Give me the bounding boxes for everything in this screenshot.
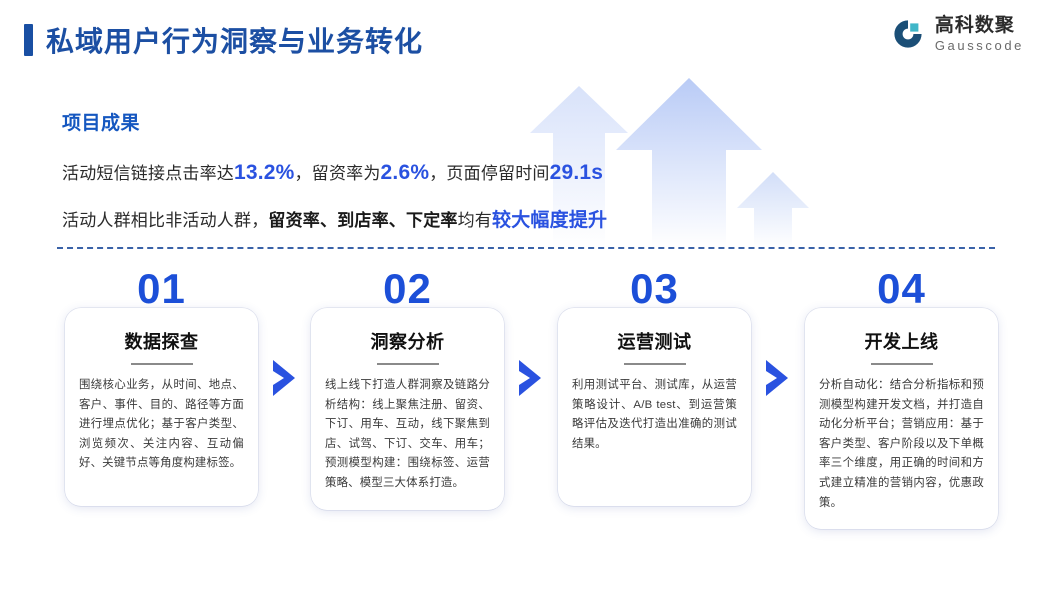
- step-rule: [131, 363, 193, 365]
- logo-name-cn: 高科数聚: [935, 16, 1024, 35]
- stat-dwell-time: 29.1s: [550, 161, 604, 184]
- results-line1-seg2: ，留资率为: [295, 164, 381, 183]
- results-block: 项目成果 活动短信链接点击率达13.2%，留资率为2.6%，页面停留时间29.1…: [62, 108, 762, 251]
- step-title: 数据探查: [79, 328, 244, 354]
- stat-click-rate: 13.2%: [234, 161, 295, 184]
- results-line2-seg1: 活动人群相比非活动人群，: [62, 211, 268, 230]
- brand-logo: 高科数聚 Gausscode: [891, 16, 1024, 52]
- step-card-body[interactable]: 运营测试 利用测试平台、测试库，从运营策略设计、A/B test、到运营策略评估…: [558, 308, 751, 506]
- results-line1-seg3: ，页面停留时间: [429, 164, 549, 183]
- logo-name-en: Gausscode: [935, 39, 1024, 52]
- results-line2-metrics: 留资率、到店率、下定率: [268, 211, 457, 230]
- step-description: 围绕核心业务，从时间、地点、客户、事件、目的、路径等方面进行埋点优化；基于客户类…: [79, 376, 244, 474]
- page-header: 私域用户行为洞察与业务转化: [24, 20, 423, 60]
- step-description: 分析自动化：结合分析指标和预测模型构建开发文档，并打造自动化分析平台；营销应用：…: [819, 376, 984, 513]
- step-card-03[interactable]: 03 运营测试 利用测试平台、测试库，从运营策略设计、A/B test、到运营策…: [558, 270, 751, 506]
- chevron-right-icon-2: [517, 358, 543, 398]
- step-card-body[interactable]: 开发上线 分析自动化：结合分析指标和预测模型构建开发文档，并打造自动化分析平台；…: [805, 308, 998, 529]
- step-card-body[interactable]: 洞察分析 线上线下打造人群洞察及链路分析结构：线上聚焦注册、留资、下订、用车、互…: [311, 308, 504, 510]
- results-line2-highlight: 较大幅度提升: [492, 210, 607, 231]
- page-title: 私域用户行为洞察与业务转化: [46, 20, 423, 60]
- step-number: 03: [558, 270, 751, 310]
- step-card-body[interactable]: 数据探查 围绕核心业务，从时间、地点、客户、事件、目的、路径等方面进行埋点优化；…: [65, 308, 258, 506]
- step-number: 02: [311, 270, 504, 310]
- step-rule: [624, 363, 686, 365]
- results-line1-seg1: 活动短信链接点击率达: [62, 164, 234, 183]
- section-divider: [57, 247, 995, 249]
- logo-mark-icon: [891, 17, 925, 51]
- results-heading: 项目成果: [62, 108, 762, 135]
- step-description: 线上线下打造人群洞察及链路分析结构：线上聚焦注册、留资、下订、用车、互动，线下聚…: [325, 376, 490, 494]
- title-accent-bar: [24, 24, 33, 56]
- step-title: 开发上线: [819, 328, 984, 354]
- step-description: 利用测试平台、测试库，从运营策略设计、A/B test、到运营策略评估及迭代打造…: [572, 376, 737, 454]
- chevron-right-icon-1: [271, 358, 297, 398]
- chevron-right-icon-3: [764, 358, 790, 398]
- results-line-1: 活动短信链接点击率达13.2%，留资率为2.6%，页面停留时间29.1s: [62, 157, 762, 190]
- step-card-04[interactable]: 04 开发上线 分析自动化：结合分析指标和预测模型构建开发文档，并打造自动化分析…: [805, 270, 998, 529]
- stat-lead-rate: 2.6%: [381, 161, 430, 184]
- logo-text: 高科数聚 Gausscode: [935, 16, 1024, 52]
- step-number: 04: [805, 270, 998, 310]
- step-title: 洞察分析: [325, 328, 490, 354]
- step-card-02[interactable]: 02 洞察分析 线上线下打造人群洞察及链路分析结构：线上聚焦注册、留资、下订、用…: [311, 270, 504, 510]
- results-line2-seg2: 均有: [458, 211, 492, 230]
- step-rule: [871, 363, 933, 365]
- step-title: 运营测试: [572, 328, 737, 354]
- results-line-2: 活动人群相比非活动人群，留资率、到店率、下定率均有较大幅度提升: [62, 206, 762, 235]
- step-rule: [377, 363, 439, 365]
- step-card-01[interactable]: 01 数据探查 围绕核心业务，从时间、地点、客户、事件、目的、路径等方面进行埋点…: [65, 270, 258, 506]
- step-number: 01: [65, 270, 258, 310]
- slide-root: 私域用户行为洞察与业务转化 高科数聚 Gausscode 项目成果 活动短信链接…: [0, 0, 1048, 591]
- steps-row: 01 数据探查 围绕核心业务，从时间、地点、客户、事件、目的、路径等方面进行埋点…: [0, 270, 1048, 530]
